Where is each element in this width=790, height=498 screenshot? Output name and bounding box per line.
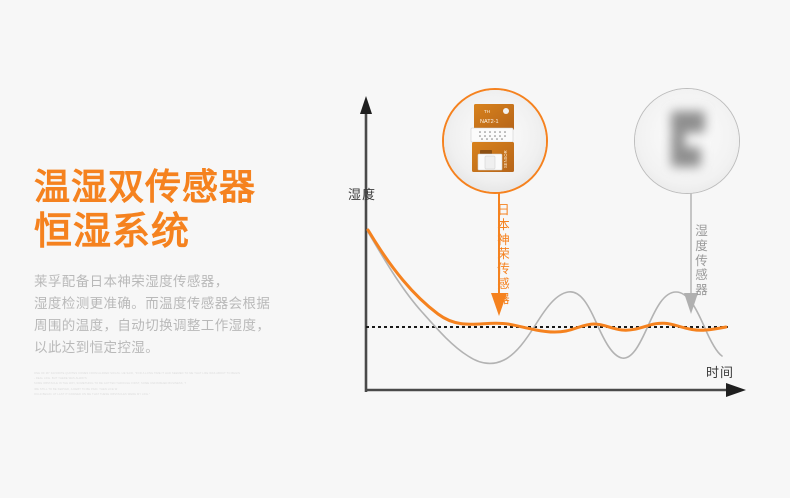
blurred-sensor-photo [635,89,739,193]
promo-banner: 温湿双传感器 恒湿系统 莱孚配备日本神荣湿度传感器， 湿度检测更准确。而温度传感… [0,0,790,498]
x-axis [366,383,746,397]
blurred-photo-circle [634,88,740,194]
body-copy-line: 湿度检测更准确。而温度传感器会根据 [34,293,324,315]
svg-text:TH: TH [484,109,490,114]
body-copy-line: 以此达到恒定控湿。 [34,337,324,359]
sensor-photo-circle: TH NAT2-1 SENSOR [442,88,548,194]
body-copy-line: 莱孚配备日本神荣湿度传感器， [34,271,324,293]
y-axis-arrow-icon [360,96,372,114]
y-axis-label: 湿度 [348,184,376,203]
series-line-shinei-sensor [368,230,726,332]
page-title: 温湿双传感器 [34,166,324,208]
body-copy-line: 周围的温度，自动切换调整工作湿度， [34,315,324,337]
body-copy: 莱孚配备日本神荣湿度传感器， 湿度检测更准确。而温度传感器会根据 周围的温度，自… [34,271,324,358]
x-axis-arrow-icon [726,383,746,397]
svg-text:SENSOR: SENSOR [503,150,508,168]
text-block: 温湿双传感器 恒湿系统 莱孚配备日本神荣湿度传感器， 湿度检测更准确。而温度传感… [34,166,324,397]
fine-print: ONE OF MY FAVORITE QUOTES COMES FROM ALF… [34,371,324,398]
fine-print-line: OULD BEGIN. AT LAST IT DAWNED ON ME THAT… [34,392,324,397]
sensor-module-photo: TH NAT2-1 SENSOR [444,90,546,192]
page-subtitle: 恒湿系统 [34,210,324,255]
y-axis [360,96,372,392]
callout-label-humidity: 湿度传感器 [694,224,709,298]
callout-label-shinei: 日本神荣传感器 [496,203,511,306]
x-axis-label: 时间 [706,362,734,381]
svg-text:NAT2-1: NAT2-1 [480,119,499,125]
